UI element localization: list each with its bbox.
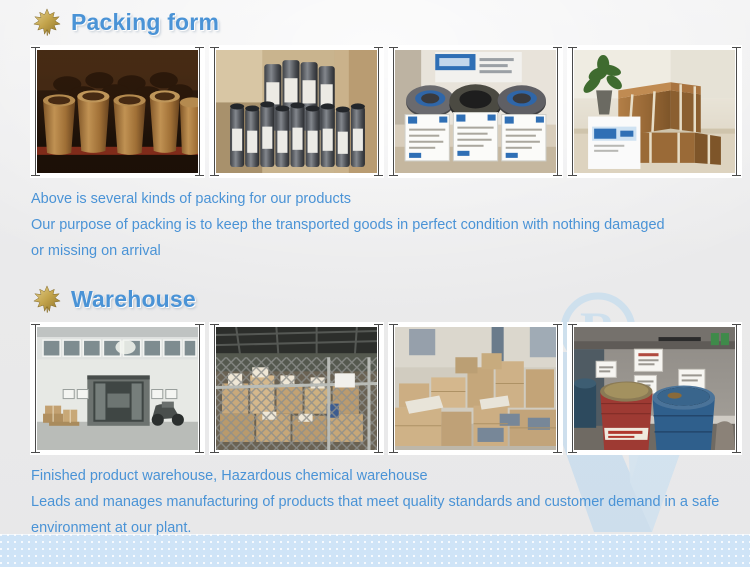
section-heading-packing-form: Packing form [0, 0, 750, 37]
caption-line: Our purpose of packing is to keep the tr… [31, 212, 730, 238]
photo-cartons-office[interactable] [567, 45, 742, 178]
maple-leaf-icon [32, 7, 62, 37]
photo-carton-stacks[interactable] [388, 322, 563, 455]
warehouse-photo-row [0, 314, 750, 455]
caption-line: environment at our plant. [31, 515, 730, 541]
product-packing-warehouse-page: R Packing form [0, 0, 750, 567]
section-title: Warehouse [71, 288, 196, 311]
caption-line: or missing on arrival [31, 238, 730, 264]
caption-line: Above is several kinds of packing for ou… [31, 186, 730, 212]
section-heading-warehouse: Warehouse [0, 264, 750, 314]
photo-oil-seals-boxes[interactable] [388, 45, 563, 178]
photo-warehouse-entrance[interactable] [30, 322, 205, 455]
packing-photo-row [0, 37, 750, 178]
photo-chemical-drums[interactable] [567, 322, 742, 455]
maple-leaf-icon [32, 284, 62, 314]
section-title: Packing form [71, 11, 219, 34]
caption-line: Finished product warehouse, Hazardous ch… [31, 463, 730, 489]
photo-fenced-storage[interactable] [209, 322, 384, 455]
packing-captions: Above is several kinds of packing for ou… [0, 178, 750, 264]
caption-line: Leads and manages manufacturing of produ… [31, 489, 730, 515]
warehouse-captions: Finished product warehouse, Hazardous ch… [0, 455, 750, 541]
photo-rolled-rubber-sheets[interactable] [209, 45, 384, 178]
photo-paper-cones-packing[interactable] [30, 45, 205, 178]
